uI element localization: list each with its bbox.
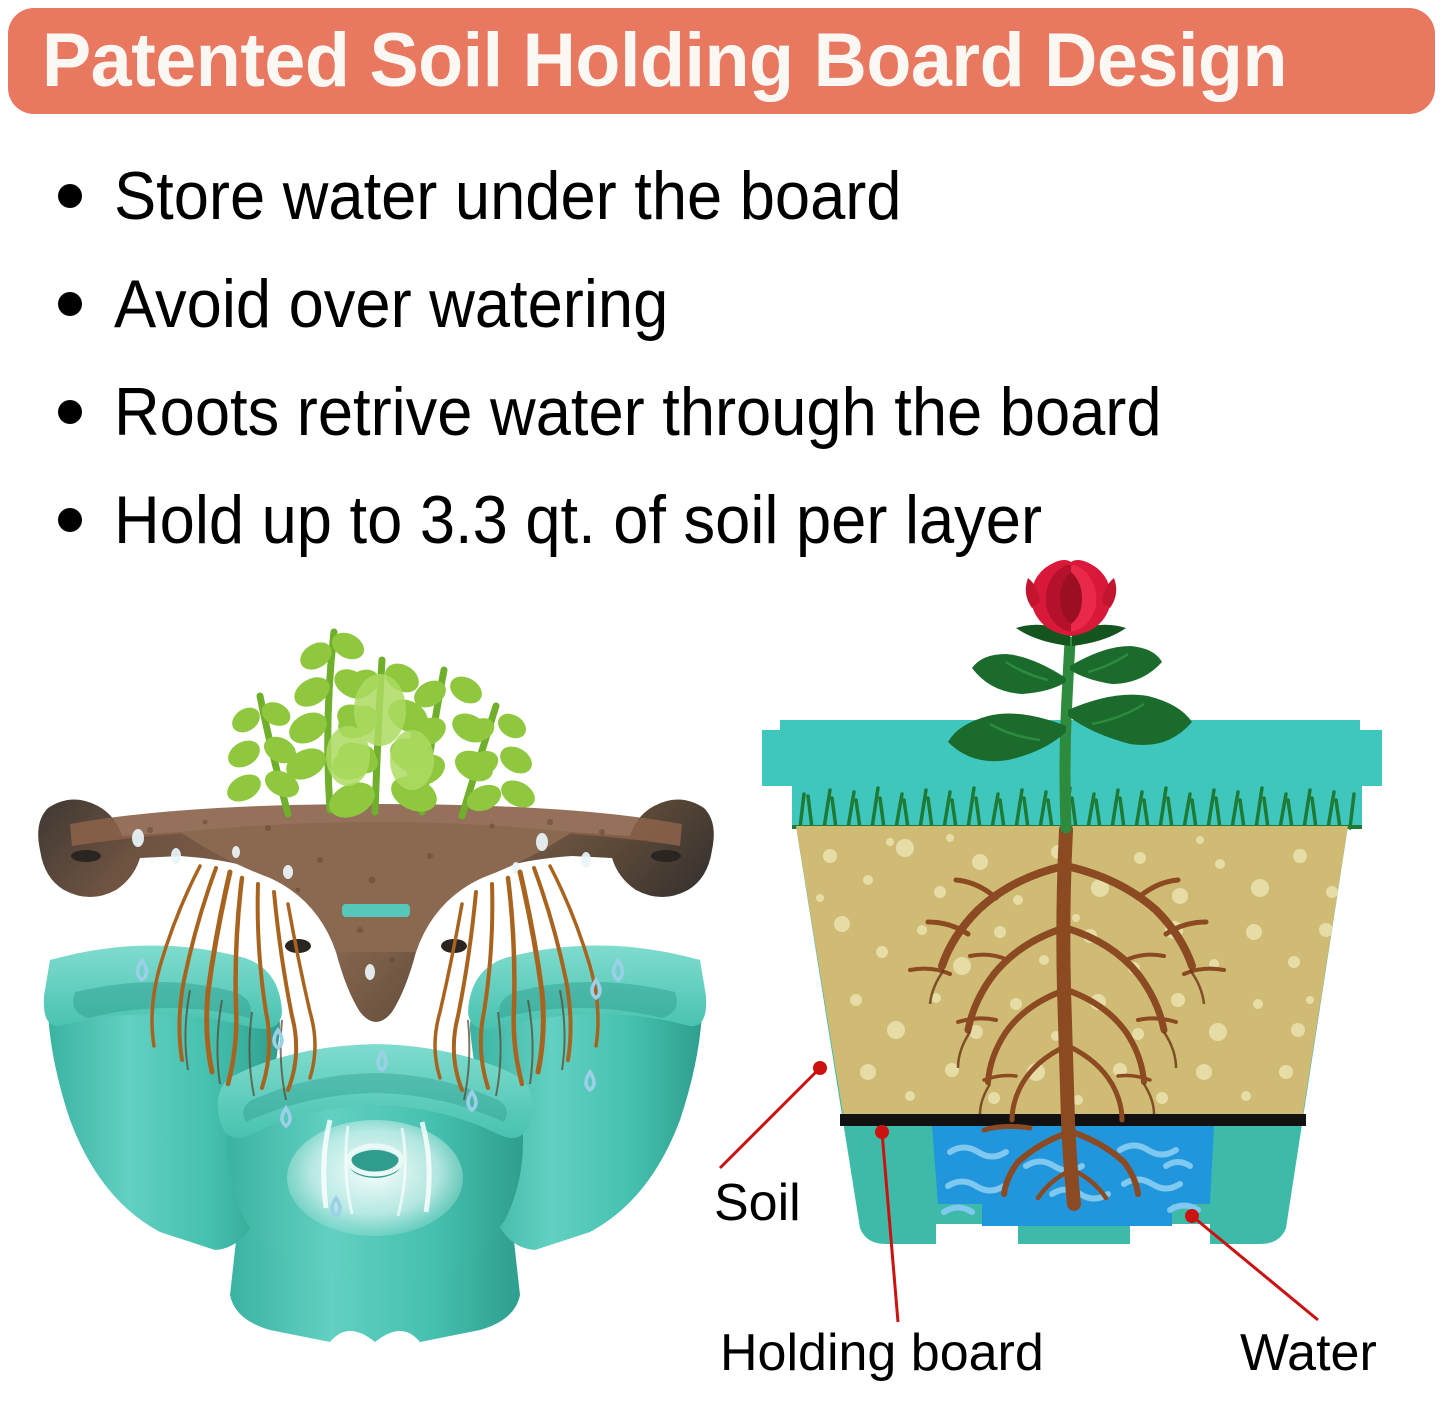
bullet-point-icon	[58, 400, 82, 424]
rose-stem	[1065, 642, 1070, 828]
pot-cross-section-diagram: Soil Holding board Water	[700, 580, 1445, 1370]
stackable-planter-photo	[30, 560, 720, 1380]
bullet-text: Hold up to 3.3 qt. of soil per layer	[114, 486, 1042, 554]
list-item: Roots retrive water through the board	[0, 358, 1445, 466]
board-hole-arm-right	[651, 850, 681, 862]
feature-bullet-list: Store water under the board Avoid over w…	[0, 142, 1445, 574]
bullet-point-icon	[58, 292, 82, 316]
rose-leaf-right-upper	[1070, 646, 1162, 684]
leader-dot-soil	[813, 1061, 827, 1075]
pot-rim	[762, 720, 1382, 798]
label-holding-board: Holding board	[720, 1324, 1044, 1382]
figures-area: Soil Holding board Water	[0, 560, 1445, 1415]
label-water: Water	[1240, 1324, 1377, 1382]
rose-bud	[1026, 560, 1117, 636]
plant-foliage	[222, 627, 539, 824]
bullet-point-icon	[58, 184, 82, 208]
leader-dot-water	[1185, 1209, 1199, 1223]
leader-line-soil	[720, 1068, 820, 1168]
page-title: Patented Soil Holding Board Design	[42, 23, 1287, 99]
label-soil: Soil	[714, 1174, 801, 1232]
bullet-text: Store water under the board	[114, 162, 901, 230]
rose-leaf-left-upper	[972, 654, 1066, 694]
list-item: Store water under the board	[0, 142, 1445, 250]
list-item: Avoid over watering	[0, 250, 1445, 358]
leader-dot-holding-board	[875, 1125, 889, 1139]
bullet-text: Roots retrive water through the board	[114, 378, 1162, 446]
header-banner: Patented Soil Holding Board Design	[8, 8, 1435, 114]
board-center-slot	[342, 904, 410, 917]
bullet-point-icon	[58, 508, 82, 532]
bullet-text: Avoid over watering	[114, 270, 668, 338]
board-hole-arm-left	[71, 850, 101, 862]
pot-rim-band	[762, 720, 1382, 798]
list-item: Hold up to 3.3 qt. of soil per layer	[0, 466, 1445, 574]
water-splash-illustration	[287, 1120, 463, 1236]
